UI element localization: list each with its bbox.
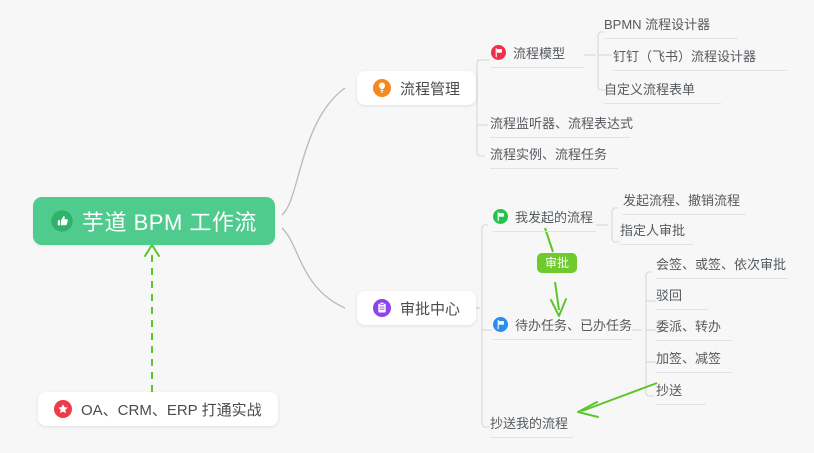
- node-reject-label: 驳回: [656, 285, 682, 304]
- node-cc-my-processes[interactable]: 抄送我的流程: [490, 412, 573, 438]
- node-delegate-transfer[interactable]: 委派、转办: [656, 315, 732, 341]
- node-process-management[interactable]: 流程管理: [357, 71, 476, 105]
- node-designated-approver[interactable]: 指定人审批: [620, 219, 693, 245]
- connector-root-to-approval-center: [282, 228, 345, 308]
- root-label: 芋道 BPM 工作流: [82, 205, 257, 237]
- node-dingtalk-designer[interactable]: 钉钉（飞书）流程设计器: [613, 45, 787, 71]
- node-custom-form-label: 自定义流程表单: [604, 79, 695, 98]
- approval-flow-arrow-line-bottom: [555, 282, 559, 310]
- star-icon: [54, 400, 72, 418]
- node-process-instance-label: 流程实例、流程任务: [490, 144, 607, 163]
- node-cc-my-processes-label: 抄送我的流程: [490, 413, 568, 432]
- node-approval-center-label: 审批中心: [400, 298, 460, 319]
- node-designated-approver-label: 指定人审批: [620, 220, 685, 239]
- node-countersign-label: 会签、或签、依次审批: [656, 254, 786, 273]
- cc-relation-arrow-line: [582, 383, 657, 411]
- node-carbon-copy-label: 抄送: [656, 380, 682, 399]
- node-process-model-label: 流程模型: [513, 43, 565, 62]
- node-my-processes[interactable]: 我发起的流程: [493, 206, 596, 232]
- node-add-remove-sign-label: 加签、减签: [656, 348, 721, 367]
- node-carbon-copy[interactable]: 抄送: [656, 379, 706, 405]
- flag-icon: [491, 45, 506, 60]
- node-process-model[interactable]: 流程模型: [491, 42, 584, 68]
- node-add-remove-sign[interactable]: 加签、减签: [656, 347, 732, 373]
- node-todo-tasks[interactable]: 待办任务、已办任务: [493, 314, 632, 340]
- node-process-management-label: 流程管理: [400, 78, 460, 99]
- connector-process-management-bracket: [477, 60, 485, 156]
- thumbs-up-icon: [51, 210, 73, 232]
- root-node[interactable]: 芋道 BPM 工作流: [33, 197, 275, 245]
- node-oa-crm-erp[interactable]: OA、CRM、ERP 打通实战: [38, 392, 278, 426]
- flag-icon: [493, 209, 508, 224]
- node-approval-center[interactable]: 审批中心: [357, 291, 476, 325]
- node-countersign[interactable]: 会签、或签、依次审批: [656, 253, 788, 279]
- dashed-arrow-head: [145, 245, 159, 256]
- mindmap-canvas: 芋道 BPM 工作流 流程管理 流程模型 流程监听器、流程表达式 流程实例、流程…: [0, 0, 814, 453]
- node-process-listener[interactable]: 流程监听器、流程表达式: [490, 112, 630, 138]
- connector-root-to-process-management: [282, 88, 345, 215]
- node-oa-crm-erp-label: OA、CRM、ERP 打通实战: [81, 399, 262, 420]
- cc-relation-arrow-head: [578, 402, 598, 417]
- lightbulb-icon: [373, 79, 391, 97]
- connector-my-processes-bracket: [612, 208, 620, 242]
- annotation-approval-badge: 审批: [537, 253, 577, 273]
- node-start-cancel-process[interactable]: 发起流程、撤销流程: [623, 189, 746, 215]
- connector-approval-center-bracket: [482, 225, 490, 427]
- node-dingtalk-designer-label: 钉钉（飞书）流程设计器: [613, 46, 756, 65]
- node-todo-tasks-label: 待办任务、已办任务: [515, 315, 632, 334]
- annotation-approval-badge-label: 审批: [545, 256, 569, 270]
- node-delegate-transfer-label: 委派、转办: [656, 316, 721, 335]
- node-start-cancel-process-label: 发起流程、撤销流程: [623, 190, 740, 209]
- node-process-instance[interactable]: 流程实例、流程任务: [490, 143, 618, 169]
- clipboard-icon: [373, 299, 391, 317]
- node-bpmn-designer[interactable]: BPMN 流程设计器: [604, 13, 738, 39]
- node-my-processes-label: 我发起的流程: [515, 207, 593, 226]
- node-bpmn-designer-label: BPMN 流程设计器: [604, 14, 710, 33]
- node-reject[interactable]: 驳回: [656, 284, 708, 310]
- connector-todo-tasks-bracket: [646, 272, 654, 396]
- flag-icon: [493, 317, 508, 332]
- node-custom-form[interactable]: 自定义流程表单: [604, 78, 721, 104]
- node-process-listener-label: 流程监听器、流程表达式: [490, 113, 633, 132]
